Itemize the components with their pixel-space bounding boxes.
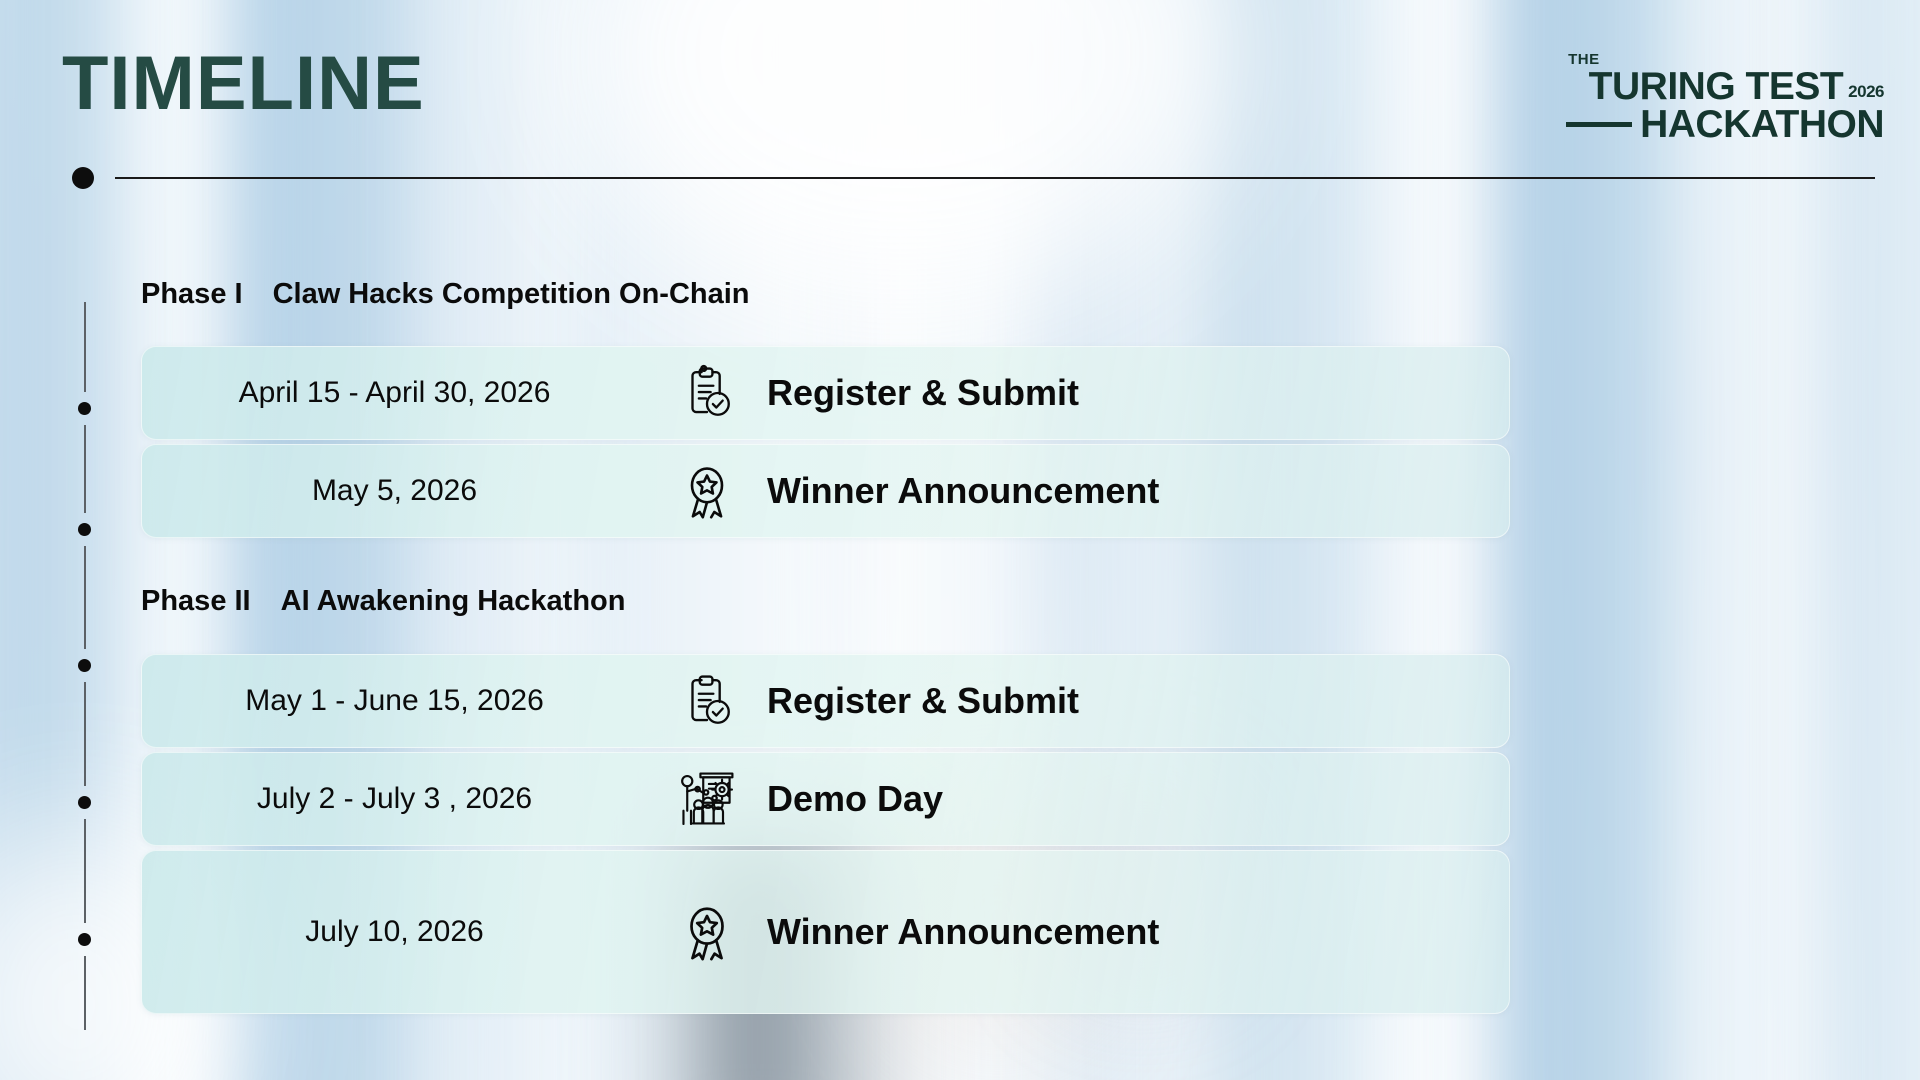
row-title-text: Register & Submit <box>767 372 1079 414</box>
phase-header-2: Phase IIAI Awakening Hackathon <box>141 585 625 618</box>
timeline-row-card[interactable]: May 1 - June 15, 2026 Register & Submit <box>141 654 1510 748</box>
row-title-text: Register & Submit <box>767 680 1079 722</box>
phase-label-text: Phase II <box>141 585 251 617</box>
phase-name-text: AI Awakening Hackathon <box>281 585 626 617</box>
timeline-row-card[interactable]: May 5, 2026 Winner Announcement <box>141 444 1510 538</box>
row-title-text: Winner Announcement <box>767 911 1159 953</box>
timeline-row-card[interactable]: July 10, 2026 Winner Announcement <box>141 850 1510 1014</box>
award-ribbon-icon <box>647 901 767 963</box>
row-date-text: April 15 - April 30, 2026 <box>142 376 647 410</box>
phase-header-1: Phase IClaw Hacks Competition On-Chain <box>141 278 750 311</box>
timeline-row-card[interactable]: July 2 - July 3 , 2026 <box>141 752 1510 846</box>
phase-name-text: Claw Hacks Competition On-Chain <box>273 278 750 310</box>
row-date-text: July 10, 2026 <box>142 915 647 949</box>
row-title-text: Demo Day <box>767 778 943 820</box>
timeline-content: Phase IClaw Hacks Competition On-Chain A… <box>0 0 1920 1080</box>
row-date-text: May 1 - June 15, 2026 <box>142 684 647 718</box>
presentation-icon <box>647 767 767 831</box>
award-ribbon-icon <box>647 461 767 521</box>
clipboard-check-icon <box>647 672 767 730</box>
row-date-text: May 5, 2026 <box>142 474 647 508</box>
timeline-row-card[interactable]: April 15 - April 30, 2026 Register & Sub… <box>141 346 1510 440</box>
phase-label-text: Phase I <box>141 278 243 310</box>
row-date-text: July 2 - July 3 , 2026 <box>142 782 647 816</box>
row-title-text: Winner Announcement <box>767 470 1159 512</box>
clipboard-check-icon <box>647 364 767 422</box>
